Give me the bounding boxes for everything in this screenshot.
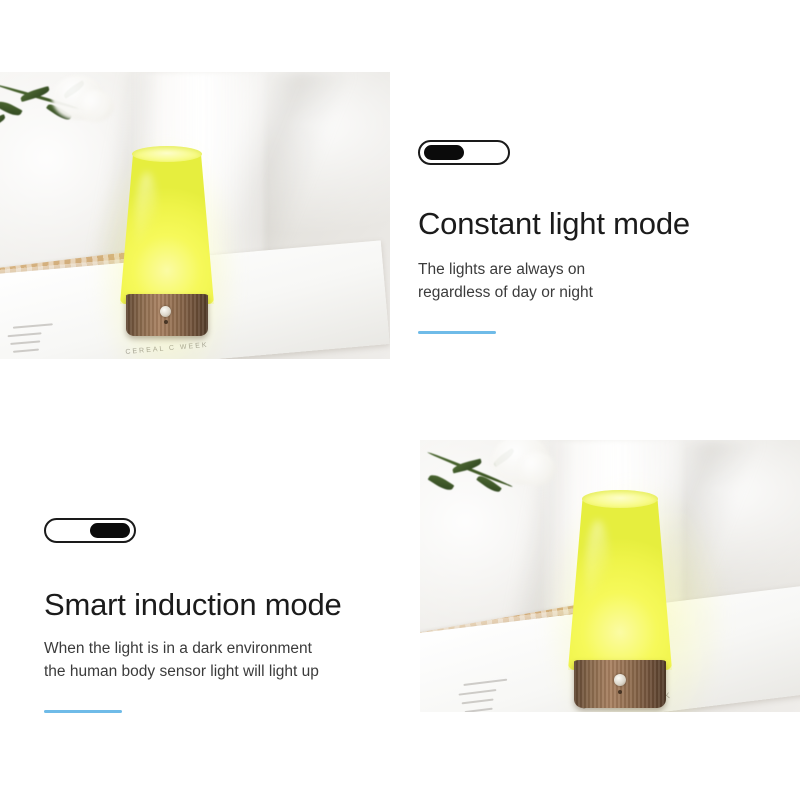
toggle-knob[interactable]	[424, 145, 464, 160]
toggle-constant-light-mode[interactable]	[418, 140, 510, 165]
night-lamp	[120, 144, 214, 328]
white-flower	[516, 452, 556, 486]
feature-title: Constant light mode	[418, 207, 788, 242]
product-feature-page: CEREAL C WEEK Constant light mode The li…	[0, 0, 800, 800]
feature-description: When the light is in a dark environment …	[44, 637, 404, 684]
feature-image-constant-light-mode: CEREAL C WEEK	[0, 72, 390, 359]
accent-underline	[44, 710, 122, 713]
toggle-smart-induction-mode[interactable]	[44, 518, 136, 543]
accent-underline	[418, 331, 496, 334]
feature-image-smart-induction-mode: CEREAL C WEEK	[420, 440, 800, 712]
feature-block-smart-induction-mode: Smart induction mode When the light is i…	[44, 518, 404, 713]
lamp-shade	[568, 498, 672, 670]
feature-block-constant-light-mode: Constant light mode The lights are alway…	[418, 140, 788, 334]
toggle-knob[interactable]	[90, 523, 130, 538]
white-flower	[76, 90, 114, 122]
feature-title: Smart induction mode	[44, 588, 404, 623]
motion-sensor-icon	[160, 306, 171, 317]
lamp-shade	[120, 152, 214, 304]
motion-sensor-icon	[614, 674, 626, 686]
feature-description: The lights are always on regardless of d…	[418, 258, 788, 305]
night-lamp	[568, 488, 672, 698]
lamp-shade-top	[132, 146, 202, 162]
lamp-shade-top	[582, 490, 658, 508]
